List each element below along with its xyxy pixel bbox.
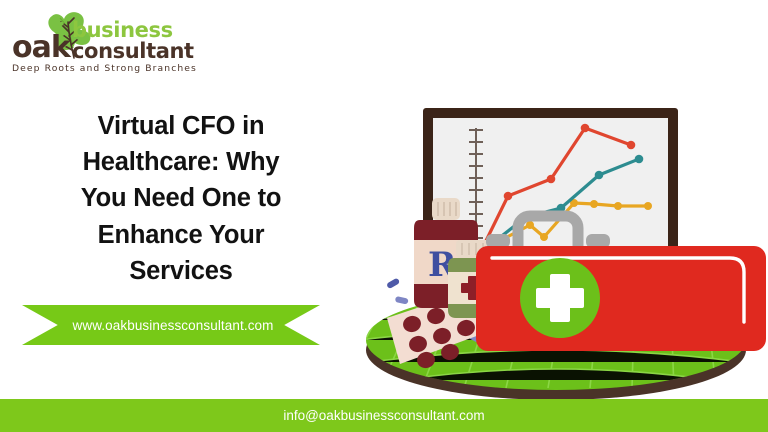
logo-tagline: Deep Roots and Strong Branches xyxy=(12,63,197,74)
logo-word-consultant: consultant xyxy=(72,39,194,63)
headline-line-1: Virtual CFO in xyxy=(36,108,326,144)
headline-line-2: Healthcare: Why xyxy=(36,144,326,180)
poster-canvas: oak business consultant Deep Roots and S… xyxy=(0,0,768,432)
website-url-text: www.oakbusinessconsultant.com xyxy=(69,318,274,333)
footer-contact-bar[interactable]: info@oakbusinessconsultant.com xyxy=(0,399,768,432)
first-aid-cross-icon xyxy=(520,258,600,338)
brand-logo[interactable]: oak business consultant Deep Roots and S… xyxy=(8,6,198,74)
page-title: Virtual CFO in Healthcare: Why You Need … xyxy=(36,108,326,289)
website-url-ribbon[interactable]: www.oakbusinessconsultant.com xyxy=(22,305,320,345)
headline-line-5: Services xyxy=(36,253,326,289)
headline-line-4: Enhance Your xyxy=(36,217,326,253)
healthcare-analytics-illustration: Rx xyxy=(330,88,768,400)
footer-email-text: info@oakbusinessconsultant.com xyxy=(283,408,484,423)
headline-line-3: You Need One to xyxy=(36,180,326,216)
logo-word-oak: oak xyxy=(12,30,72,65)
